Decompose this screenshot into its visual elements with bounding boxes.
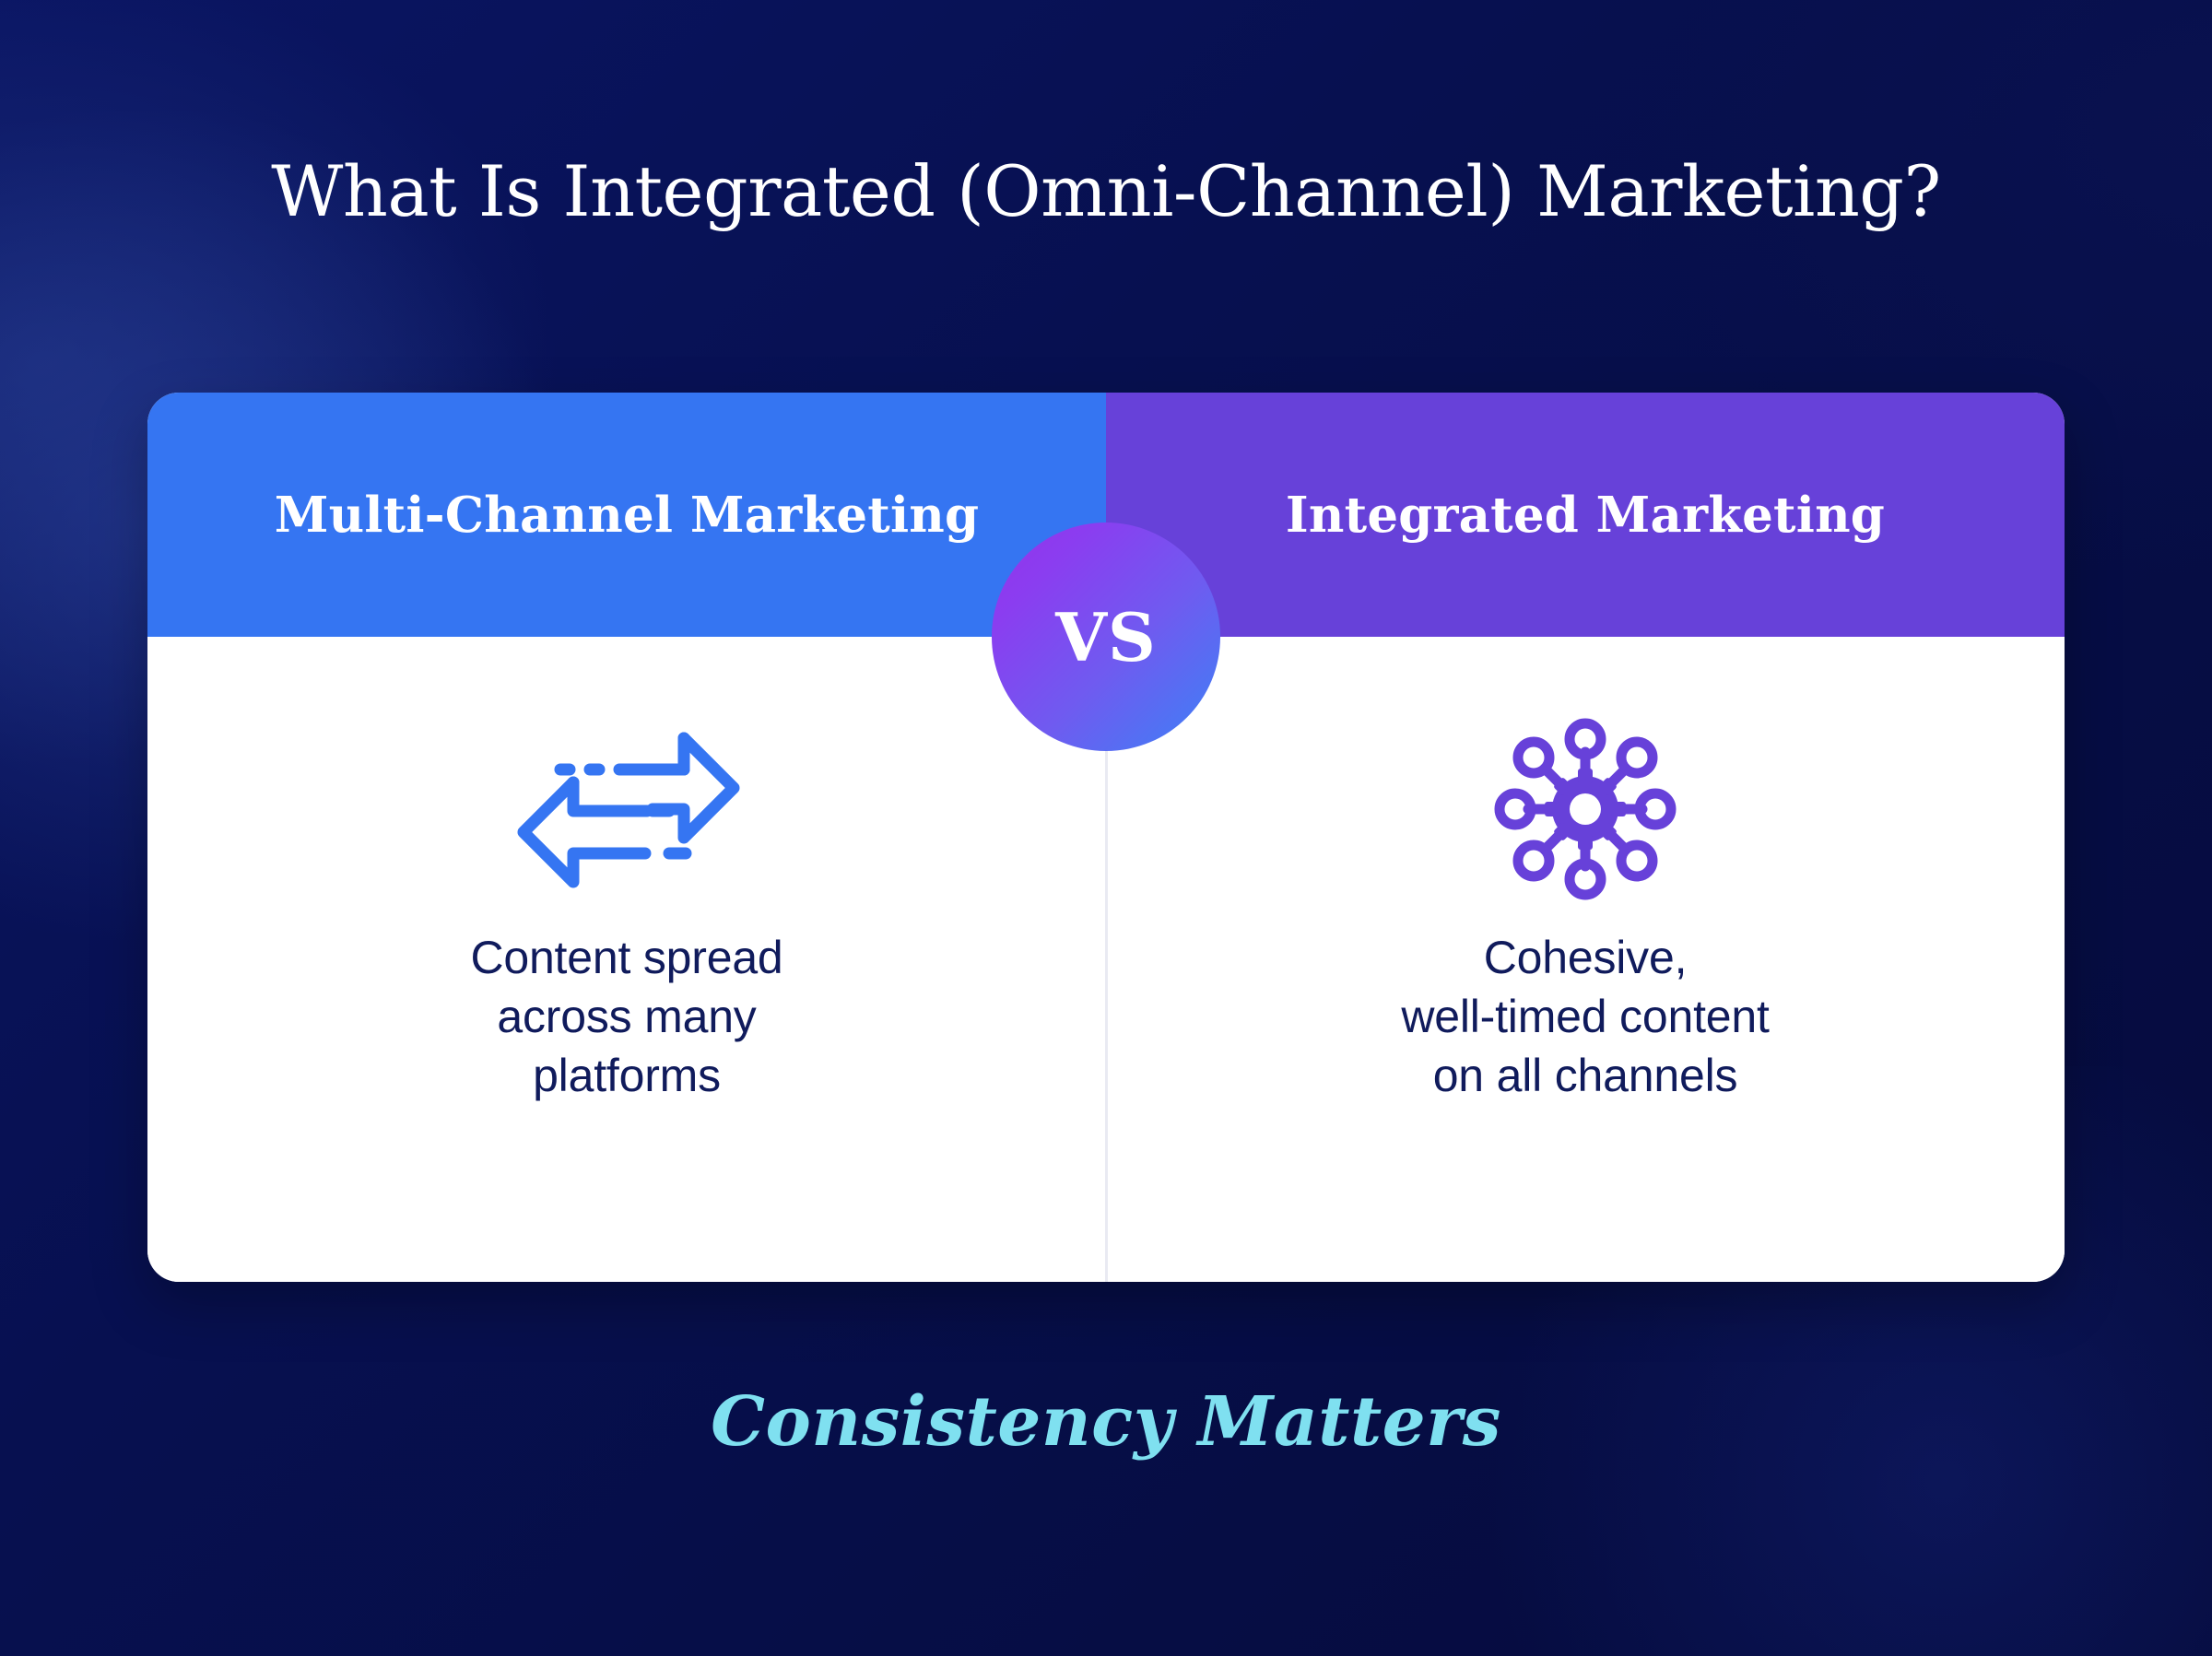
tagline: Consistency Matters [0, 1382, 2212, 1462]
comparison-column-multi-channel: Content spread across many platforms [147, 637, 1106, 1282]
page-title: What Is Integrated (Omni-Channel) Market… [0, 155, 2212, 229]
column-header-integrated: Integrated Marketing [1106, 393, 2065, 637]
vs-badge: VS [992, 523, 1220, 751]
comparison-column-integrated: Cohesive, well-timed content on all chan… [1106, 637, 2065, 1282]
infographic-canvas: What Is Integrated (Omni-Channel) Market… [0, 0, 2212, 1656]
column-description-integrated: Cohesive, well-timed content on all chan… [1401, 928, 1769, 1105]
column-description-multi-channel: Content spread across many platforms [470, 928, 782, 1105]
column-header-multi-channel: Multi-Channel Marketing [147, 393, 1106, 637]
hub-network-icon [1493, 722, 1677, 897]
comparison-card: Multi-Channel Marketing Integrated Marke… [147, 393, 2065, 1282]
two-way-arrows-icon [488, 722, 765, 897]
